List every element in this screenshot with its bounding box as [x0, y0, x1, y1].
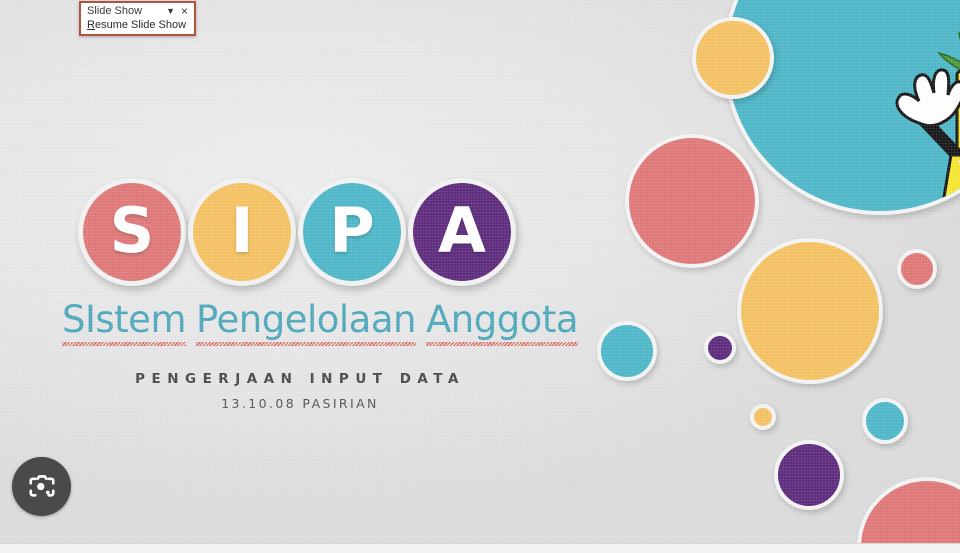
subtitle-word: Pengelolaan — [196, 298, 416, 343]
subtitle-word: SIstem — [62, 298, 186, 343]
acronym-letter-glyph: S — [110, 200, 155, 262]
resume-label-rest: esume Slide Show — [95, 19, 186, 31]
page-bottom-strip — [0, 543, 960, 553]
slide-show-popup-header: Slide Show ▼ × — [81, 3, 194, 18]
resume-slide-show-button[interactable]: Resume Slide Show — [81, 18, 194, 34]
circle-salmon-large — [625, 134, 759, 268]
acronym-letter-glyph: P — [329, 200, 374, 262]
acronym-letter-i: I — [188, 178, 296, 286]
circle-purple-lower — [774, 440, 844, 510]
presentation-slide[interactable]: SI COCO SIPA SIstemPengelolaanAnggota PE… — [0, 0, 960, 543]
circle-salmon-corner — [857, 477, 960, 543]
slide-subtitle: SIstemPengelolaanAnggota — [62, 298, 578, 343]
slide-date-line: 13.10.08 PASIRIAN — [0, 396, 600, 411]
circle-teal-lower-right — [862, 398, 908, 444]
circle-purple-small — [704, 332, 736, 364]
resume-accel-key: R — [87, 19, 95, 31]
slide-show-popup[interactable]: Slide Show ▼ × Resume Slide Show — [79, 1, 196, 36]
chevron-down-icon[interactable]: ▼ — [166, 7, 175, 16]
acronym-letter-glyph: A — [438, 200, 486, 262]
close-icon[interactable]: × — [179, 5, 190, 17]
circle-yellow-top — [692, 17, 774, 99]
screenshot-stage: SI COCO SIPA SIstemPengelolaanAnggota PE… — [0, 0, 960, 553]
acronym-letter-p: P — [298, 178, 406, 286]
acronym-letter-s: S — [78, 178, 186, 286]
google-lens-button[interactable] — [12, 457, 71, 516]
slide-show-popup-title: Slide Show — [87, 5, 142, 17]
circle-teal-mid-left — [597, 321, 657, 381]
acronym-letter-glyph: I — [230, 200, 253, 262]
subtitle-word: Anggota — [426, 298, 578, 343]
acronym-letter-a: A — [408, 178, 516, 286]
circle-salmon-small — [897, 249, 937, 289]
lens-camera-icon — [27, 472, 57, 502]
si-coco-mascot-illustration — [835, 13, 960, 215]
circle-yellow-tiny — [750, 404, 776, 430]
slide-event-line: PENGERJAAN INPUT DATA — [0, 371, 600, 387]
circle-yellow-large — [737, 238, 883, 384]
